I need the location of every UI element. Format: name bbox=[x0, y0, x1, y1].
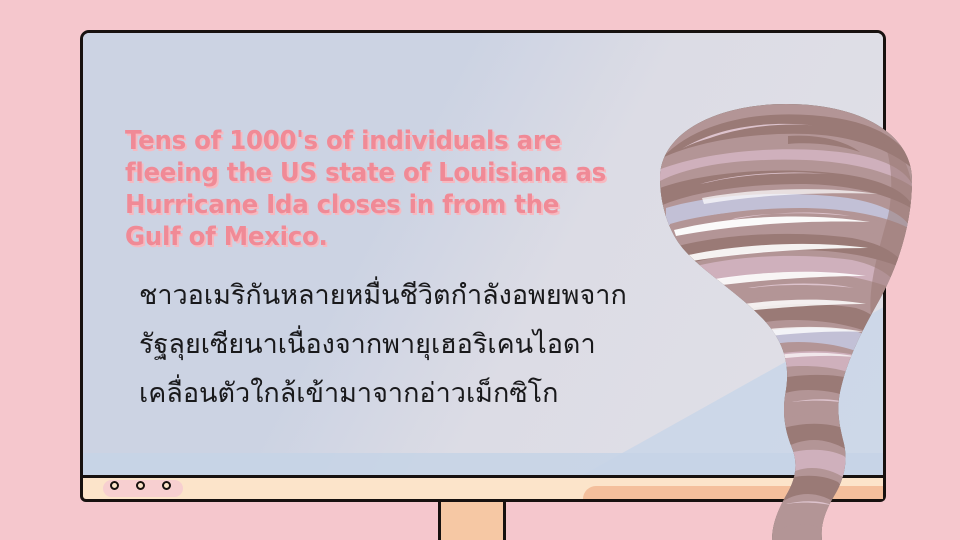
tornado-icon bbox=[640, 92, 960, 540]
indicator-dot-3-icon bbox=[162, 481, 171, 490]
indicator-dot-1-icon bbox=[110, 481, 119, 490]
tornado-bands bbox=[640, 92, 960, 540]
indicator-dot-2-icon bbox=[136, 481, 145, 490]
headline-text: Tens of 1000's of individuals are fleein… bbox=[125, 125, 682, 253]
slide-canvas: Tens of 1000's of individuals are fleein… bbox=[0, 0, 960, 540]
monitor-stand-neck bbox=[438, 498, 506, 540]
